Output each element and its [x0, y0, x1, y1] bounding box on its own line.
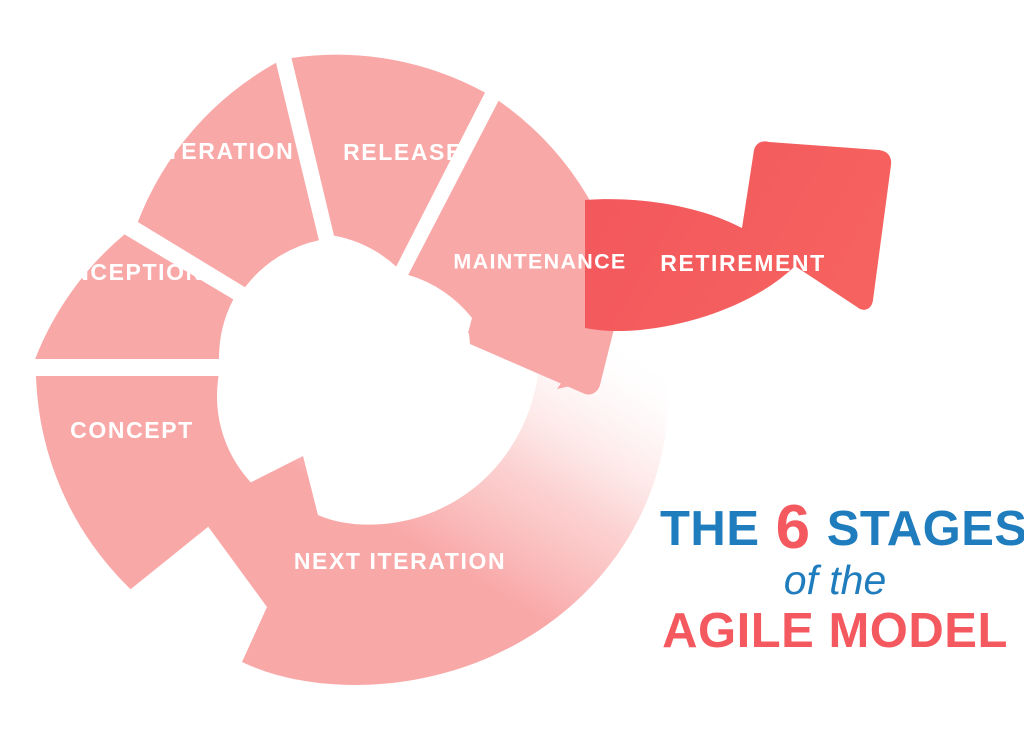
segment-label-inception: INCEPTION	[64, 259, 204, 285]
title-word-stages: STAGES	[827, 502, 1024, 556]
diagram-canvas: CONCEPT INCEPTION ITERATION RELEASE MAIN…	[0, 0, 1024, 739]
title-line-3: AGILE MODEL	[660, 607, 1010, 656]
title-line-1: THE 6 STAGES	[660, 503, 1010, 554]
title-block: THE 6 STAGES of the AGILE MODEL	[660, 503, 1010, 656]
title-word-the: THE	[660, 502, 760, 556]
segment-iteration[interactable]	[138, 63, 319, 287]
retirement-arrow-shape	[585, 141, 891, 331]
segment-label-concept: CONCEPT	[70, 417, 194, 443]
segment-label-release: RELEASE	[343, 139, 463, 165]
segment-concept[interactable]	[36, 376, 256, 589]
segment-label-maintenance: MAINTENANCE	[453, 250, 626, 274]
retirement-arrow[interactable]	[585, 141, 891, 331]
label-next-iteration: NEXT ITERATION	[294, 548, 506, 574]
title-line-2: of the	[660, 560, 1010, 601]
title-number-six: 6	[774, 493, 813, 562]
segment-label-iteration: ITERATION	[158, 138, 295, 164]
segment-label-retirement: RETIREMENT	[660, 250, 826, 276]
